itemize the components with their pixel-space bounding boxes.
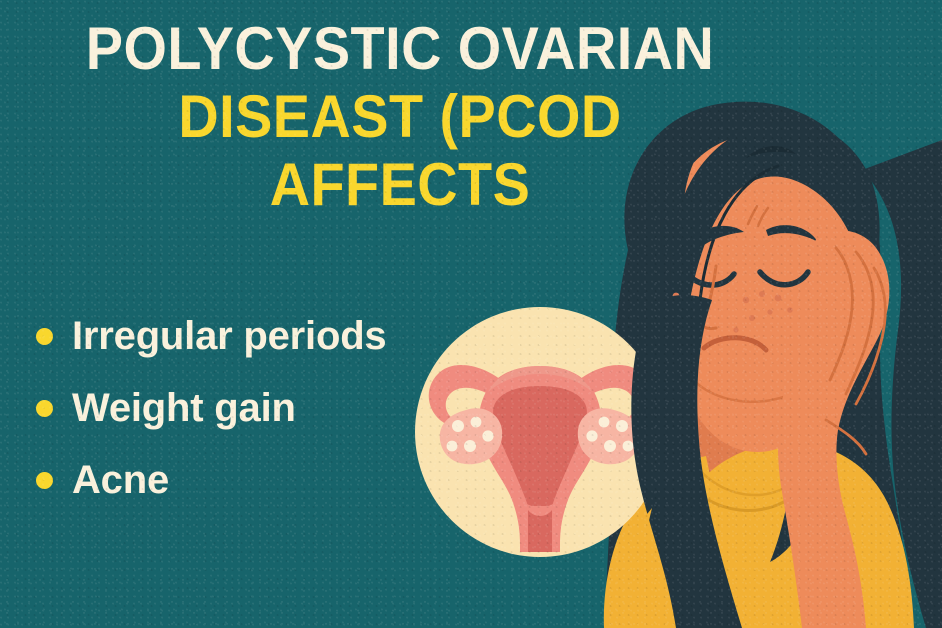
- poster-canvas: POLYCYSTIC OVARIAN DISEAST (PCOD AFFECTS…: [0, 0, 942, 628]
- woman-foreground-overlap: [0, 0, 942, 628]
- shirt-overlap: [612, 508, 652, 628]
- hair-overlap-strand: [631, 295, 742, 628]
